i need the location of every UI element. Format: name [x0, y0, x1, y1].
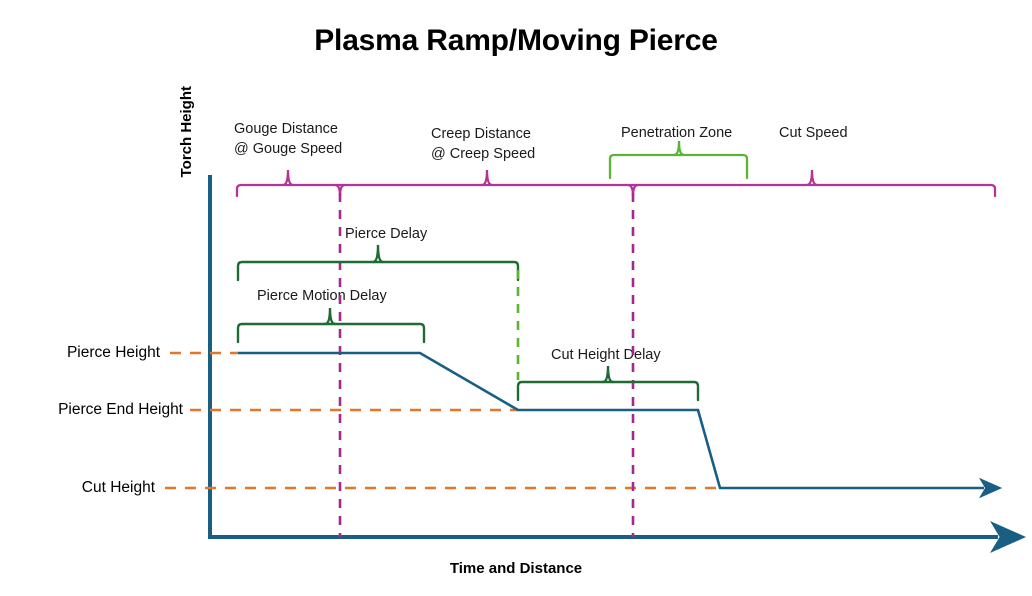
cut-height-delay-bracket: [518, 382, 698, 400]
cut-height-delay-bracket-tick: [603, 366, 613, 382]
pierce-delay-bracket-tick: [373, 245, 383, 262]
plasma-ramp-diagram: Plasma Ramp/Moving Pierce Torch Height T…: [0, 0, 1032, 596]
speed-bracket-tick-gouge: [283, 170, 293, 185]
speed-bracket-tick-cut-speed: [807, 170, 817, 185]
penetration-zone-bracket-tick: [674, 141, 684, 155]
pierce-delay-bracket: [238, 262, 518, 280]
torch-height-profile: [238, 353, 984, 488]
speed-bracket-tick-creep: [482, 170, 492, 185]
pierce-motion-delay-bracket-tick: [325, 308, 335, 324]
pierce-motion-delay-bracket: [238, 324, 424, 342]
speed-bracket: [237, 185, 995, 196]
penetration-zone-bracket: [610, 155, 747, 178]
diagram-canvas: [0, 0, 1032, 596]
